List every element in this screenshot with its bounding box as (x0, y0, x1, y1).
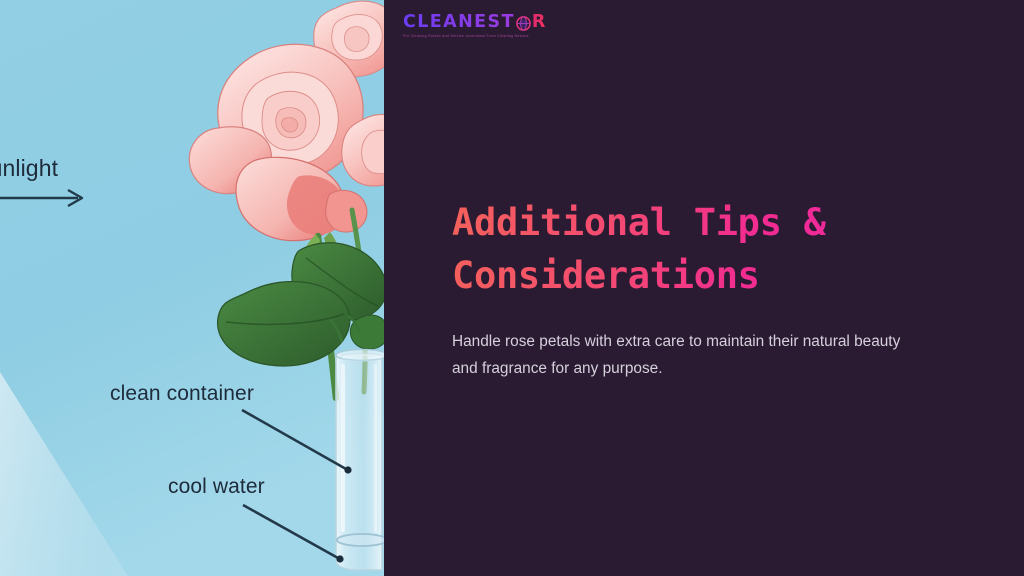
rose-care-illustration: sunlight clean container cool water (0, 0, 384, 576)
vase-water-base (337, 534, 384, 546)
logo-tagline: Pro Cleaning Guides And Service Journali… (403, 34, 543, 38)
glass-vase (336, 350, 384, 571)
leader-dot-cool-water (336, 555, 343, 562)
leader-dot-clean-container (344, 466, 351, 473)
slide: sunlight clean container cool water CLEA… (0, 0, 1024, 576)
page-title: Additional Tips & Considerations (452, 196, 882, 302)
logo-text-part-2: R (532, 14, 547, 32)
illustration-label-clean-container: clean container (110, 382, 254, 406)
brand-logo[interactable]: CLEANEST R Pro Cleaning Guides And Servi… (403, 13, 543, 38)
globe-icon (516, 16, 531, 31)
logo-text-part-1: CLEANEST (403, 14, 515, 32)
illustration-label-cool-water: cool water (168, 475, 265, 499)
content-panel: CLEANEST R Pro Cleaning Guides And Servi… (384, 0, 1024, 576)
body-paragraph: Handle rose petals with extra care to ma… (452, 328, 922, 382)
illustration-label-sunlight: sunlight (0, 155, 58, 182)
logo-wordmark: CLEANEST R (403, 13, 543, 32)
rose-bud (326, 190, 367, 232)
